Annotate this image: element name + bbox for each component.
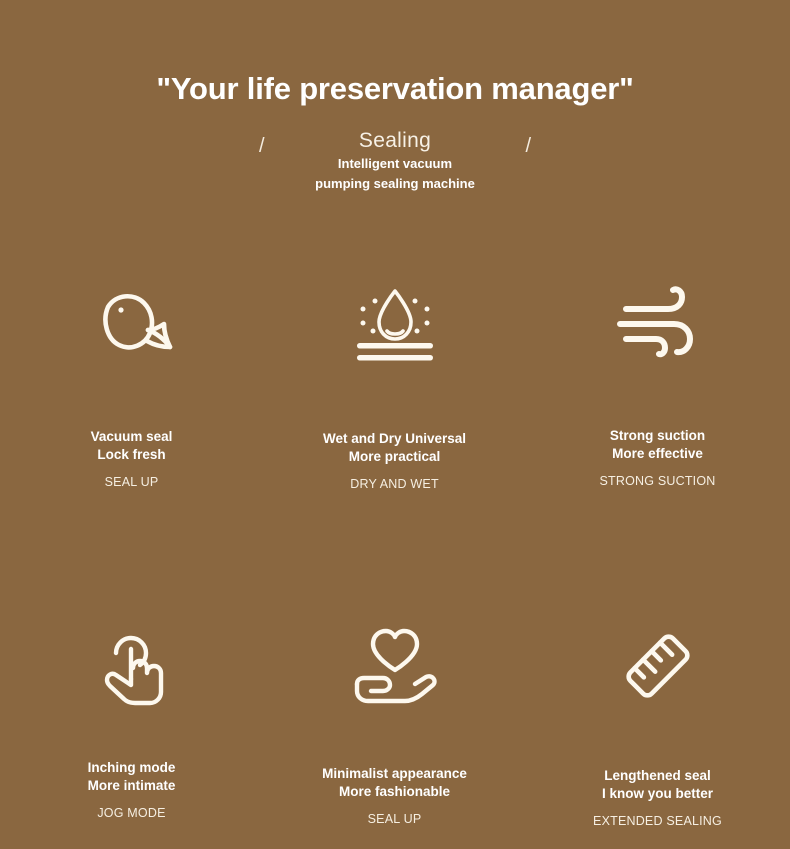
feature-line-1: Lengthened seal [593, 767, 722, 785]
feature-row-1: Vacuum seal Lock fresh SEAL UP [0, 272, 790, 492]
feature-grid: Vacuum seal Lock fresh SEAL UP [0, 272, 790, 829]
feature-line-2: More fashionable [322, 783, 467, 801]
water-droplet-icon [349, 272, 441, 372]
fish-icon [86, 272, 178, 372]
page-title: "Your life preservation manager" [0, 0, 790, 106]
feature-caption: EXTENDED SEALING [593, 813, 722, 829]
feature-row-2: Inching mode More intimate JOG MODE Mini… [0, 616, 790, 829]
feature-text-block: Wet and Dry Universal More practical DRY… [323, 430, 466, 492]
feature-line-2: More practical [323, 448, 466, 466]
feature-line-2: Lock fresh [91, 446, 173, 464]
feature-line-1: Vacuum seal [91, 428, 173, 446]
feature-item-lengthened-seal: Lengthened seal I know you better EXTEND… [526, 616, 789, 829]
feature-line-2: I know you better [593, 785, 722, 803]
feature-caption: STRONG SUCTION [600, 473, 716, 489]
feature-item-minimalist-appearance: Minimalist appearance More fashionable S… [263, 616, 526, 829]
ruler-icon [612, 616, 704, 716]
subtitle-block: / / Sealing Intelligent vacuum pumping s… [245, 106, 545, 192]
feature-line-1: Wet and Dry Universal [323, 430, 466, 448]
tap-hand-icon [86, 616, 178, 716]
feature-text-block: Vacuum seal Lock fresh SEAL UP [91, 428, 173, 490]
wind-icon [612, 272, 704, 372]
feature-item-strong-suction: Strong suction More effective STRONG SUC… [526, 272, 789, 492]
subtitle-sub-line-1: Intelligent vacuum [245, 155, 545, 173]
slash-right-decoration: / [525, 136, 531, 156]
slash-left-decoration: / [259, 136, 265, 156]
feature-line-1: Inching mode [88, 759, 176, 777]
subtitle-main: Sealing [245, 129, 545, 153]
feature-text-block: Strong suction More effective STRONG SUC… [600, 427, 716, 489]
feature-line-1: Strong suction [600, 427, 716, 445]
feature-line-1: Minimalist appearance [322, 765, 467, 783]
heart-in-hand-icon [349, 616, 441, 716]
feature-caption: DRY AND WET [323, 476, 466, 492]
feature-text-block: Lengthened seal I know you better EXTEND… [593, 767, 722, 829]
feature-item-wet-dry: Wet and Dry Universal More practical DRY… [263, 272, 526, 492]
feature-line-2: More effective [600, 445, 716, 463]
feature-caption: JOG MODE [88, 805, 176, 821]
feature-text-block: Inching mode More intimate JOG MODE [88, 759, 176, 821]
hero-header: "Your life preservation manager" / / Sea… [0, 0, 790, 192]
feature-text-block: Minimalist appearance More fashionable S… [322, 765, 467, 827]
feature-caption: SEAL UP [91, 474, 173, 490]
feature-item-vacuum-seal: Vacuum seal Lock fresh SEAL UP [0, 272, 263, 492]
subtitle-sub-line-2: pumping sealing machine [245, 175, 545, 193]
feature-caption: SEAL UP [322, 811, 467, 827]
feature-line-2: More intimate [88, 777, 176, 795]
feature-item-inching-mode: Inching mode More intimate JOG MODE [0, 616, 263, 829]
